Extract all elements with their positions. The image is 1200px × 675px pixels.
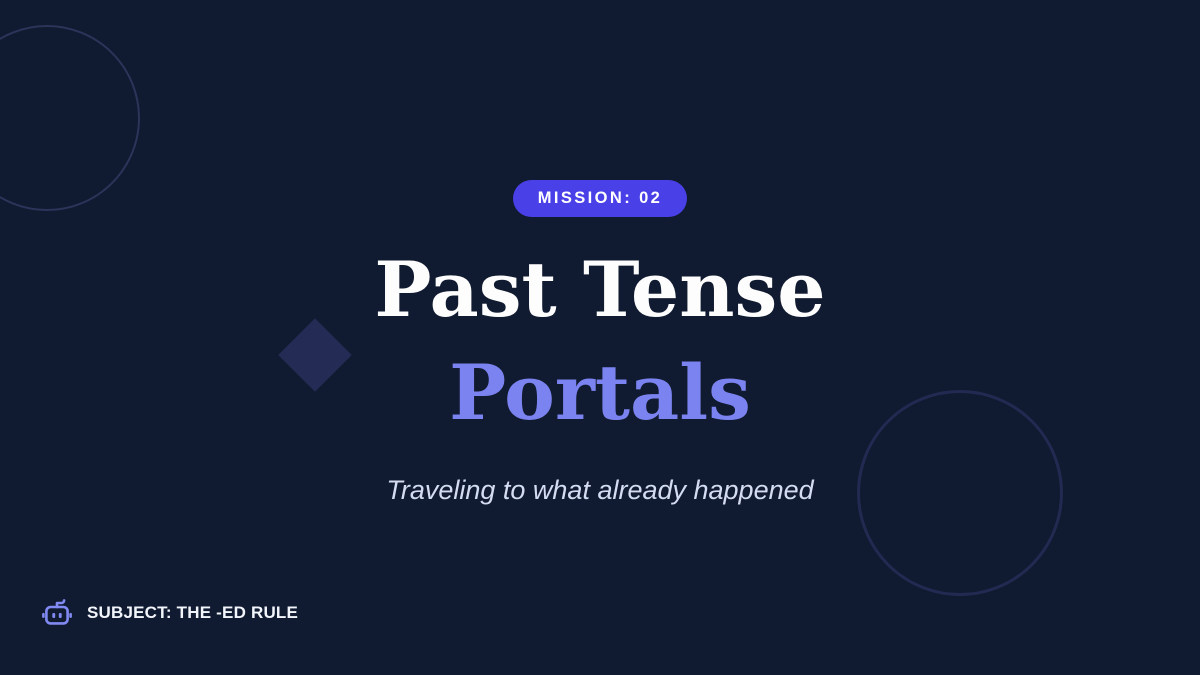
mission-badge: MISSION: 02 xyxy=(513,180,688,217)
slide-content: MISSION: 02 Past Tense Portals Traveling… xyxy=(0,0,1200,675)
slide-subtitle: Traveling to what already happened xyxy=(386,475,813,506)
footer-subject-label: SUBJECT: THE -ED RULE xyxy=(87,603,298,623)
slide-title-line-2: Portals xyxy=(449,355,751,431)
robot-icon xyxy=(40,598,74,628)
slide-footer: SUBJECT: THE -ED RULE xyxy=(40,598,298,628)
slide-title-line-1: Past Tense xyxy=(374,252,825,328)
slide-canvas: MISSION: 02 Past Tense Portals Traveling… xyxy=(0,0,1200,675)
